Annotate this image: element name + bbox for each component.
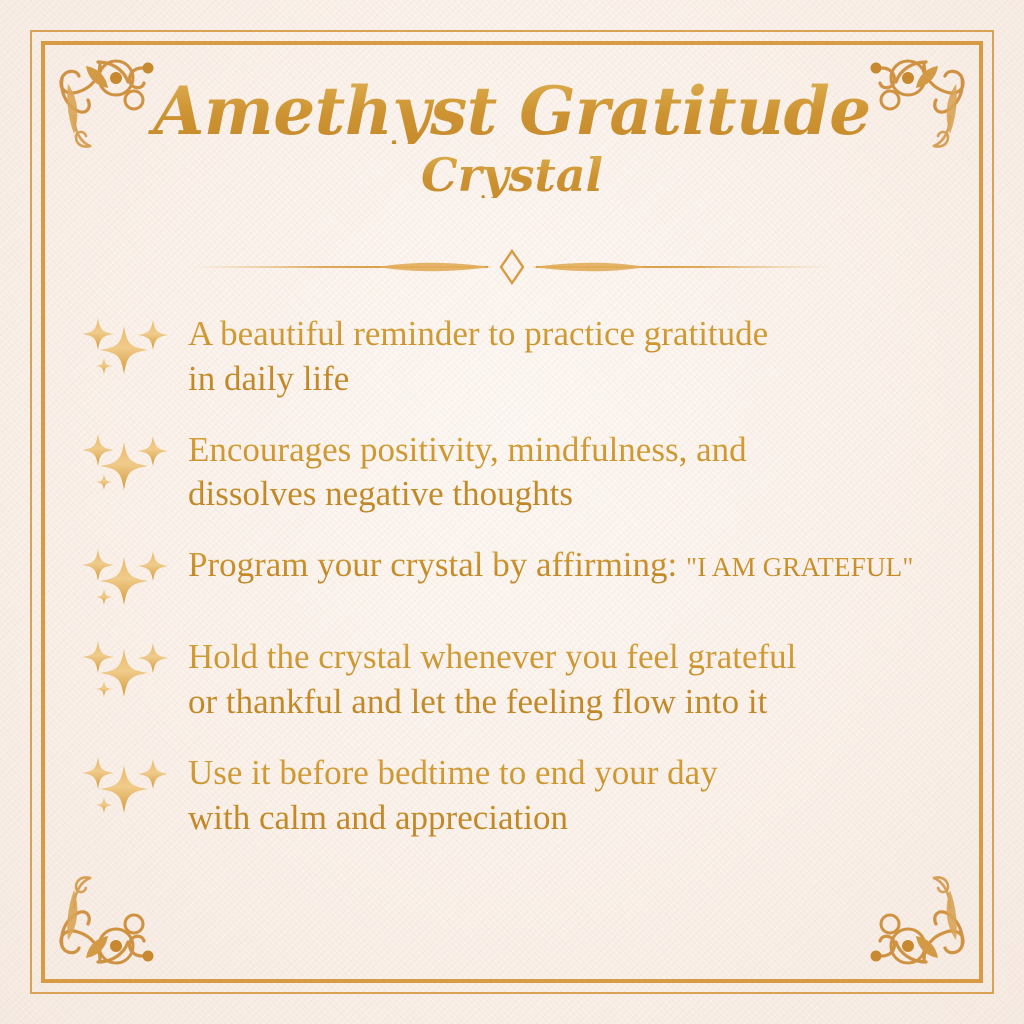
gratitude-crystal-card: Amethyst Gratitude Crystal (0, 0, 1024, 1024)
list-item: Program your crystal by affirming: "I AM… (78, 543, 1008, 609)
divider (0, 248, 1024, 286)
list-item-text: A beautiful reminder to practice gratitu… (174, 312, 1008, 402)
page-subtitle: Crystal (0, 152, 1024, 198)
list-item-text: Hold the crystal whenever you feel grate… (174, 635, 1008, 725)
list-item-text: Program your crystal by affirming: "I AM… (174, 543, 1008, 588)
list-item-line: Program your crystal by affirming: (188, 545, 686, 584)
sparkle-icon (78, 432, 174, 494)
affirmation-text: "I AM GRATEFUL" (686, 552, 914, 582)
list-item-text: Use it before bedtime to end your day wi… (174, 751, 1008, 841)
list-item: Use it before bedtime to end your day wi… (78, 751, 1008, 841)
list-item-line: or thankful and let the feeling flow int… (188, 682, 767, 721)
list-item: A beautiful reminder to practice gratitu… (78, 312, 1008, 402)
list-item-line: A beautiful reminder to practice gratitu… (188, 314, 768, 353)
card-header: Amethyst Gratitude Crystal (0, 78, 1024, 198)
sparkle-icon (78, 639, 174, 701)
sparkle-icon (78, 316, 174, 378)
benefits-list: A beautiful reminder to practice gratitu… (78, 312, 1008, 866)
page-title: Amethyst Gratitude (0, 78, 1024, 144)
sparkle-icon (78, 547, 174, 609)
list-item-text: Encourages positivity, mindfulness, and … (174, 428, 1008, 518)
sparkle-icon (78, 755, 174, 817)
list-item-line: with calm and appreciation (188, 798, 568, 837)
list-item-line: Encourages positivity, mindfulness, and (188, 430, 747, 469)
list-item-line: Use it before bedtime to end your day (188, 753, 718, 792)
diamond-flourish-divider-icon (192, 248, 832, 286)
list-item: Encourages positivity, mindfulness, and … (78, 428, 1008, 518)
list-item-line: in daily life (188, 359, 349, 398)
list-item: Hold the crystal whenever you feel grate… (78, 635, 1008, 725)
list-item-line: Hold the crystal whenever you feel grate… (188, 637, 796, 676)
list-item-line: dissolves negative thoughts (188, 474, 573, 513)
